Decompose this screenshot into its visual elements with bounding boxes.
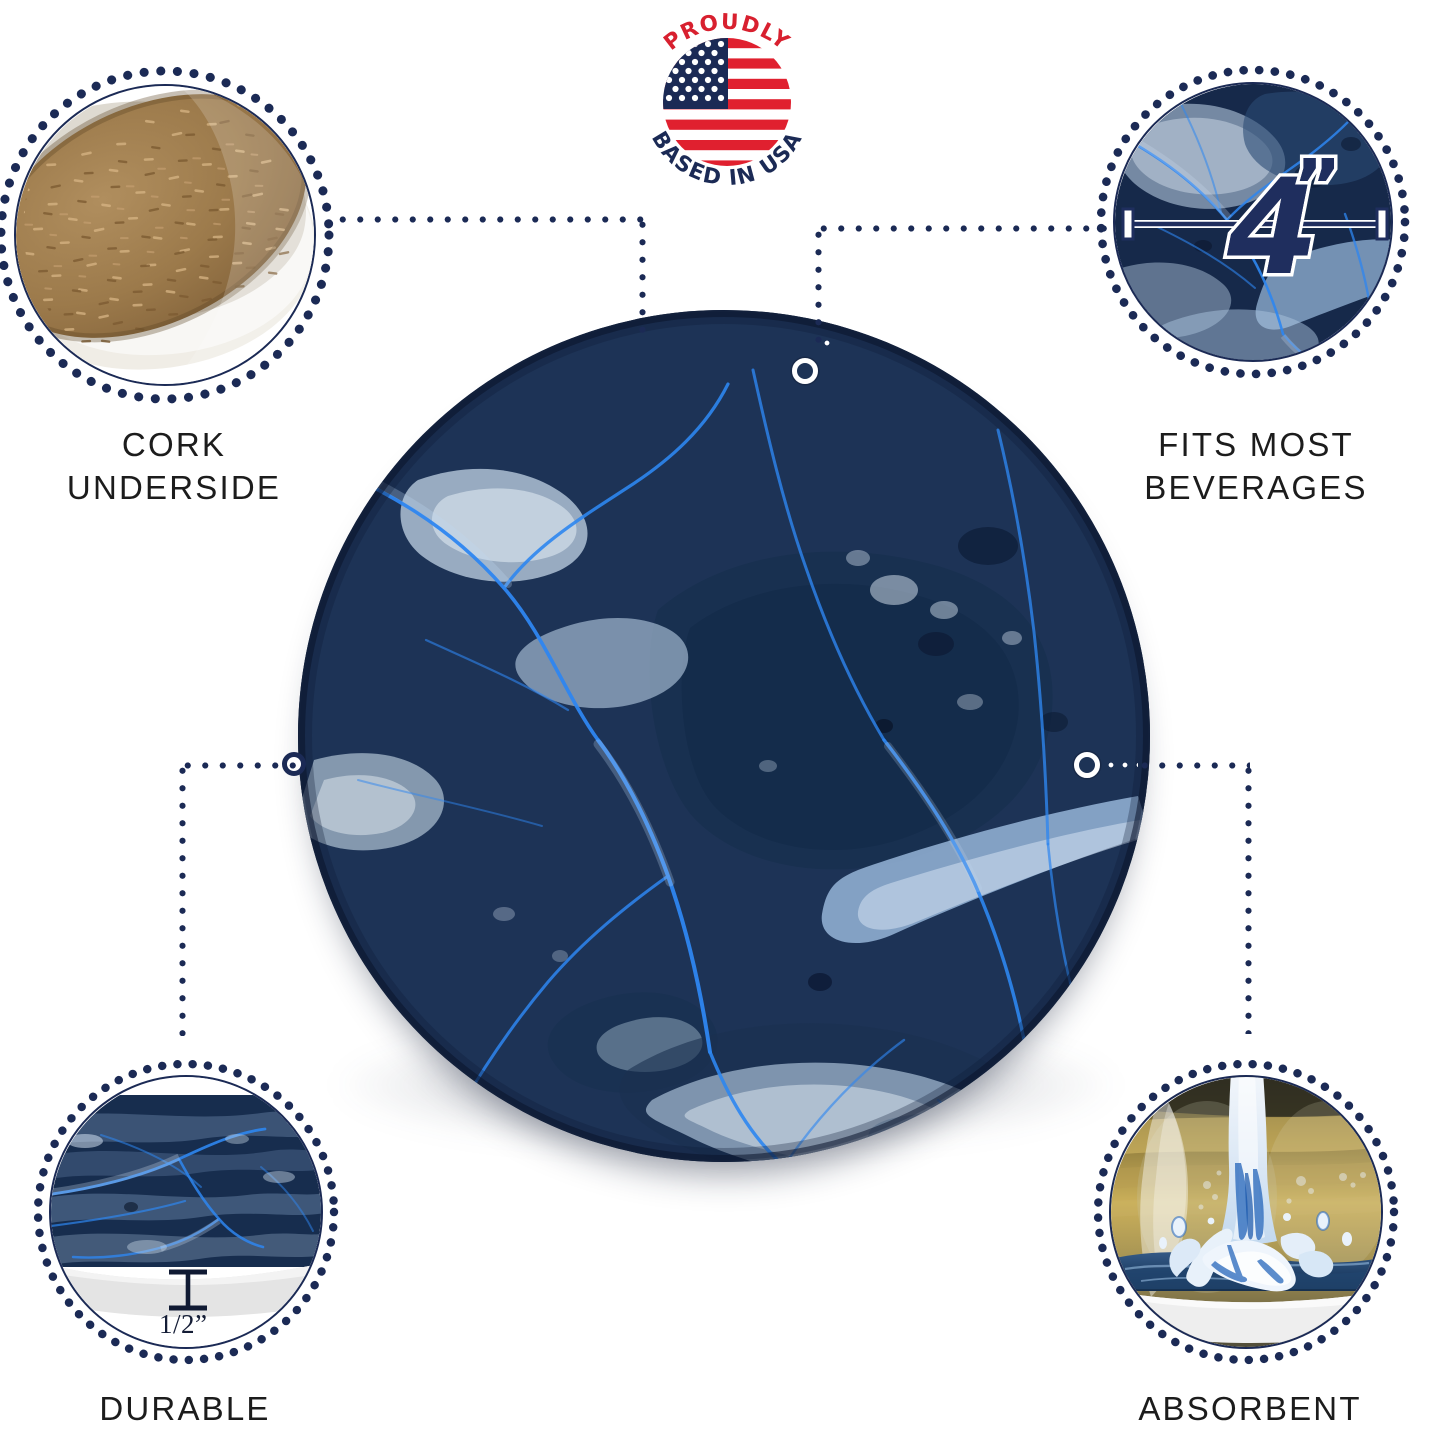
coaster-marble-detail [298,310,1150,1162]
main-coaster-product-image [298,310,1150,1162]
infographic-canvas: CORK UNDERSIDE [0,0,1445,1432]
proudly-based-in-usa-badge: PROUDLY BASED IN USA [632,6,822,196]
pin-fits-beverages [792,358,818,384]
label-durable: DURABLE [35,1388,335,1431]
pin-lead-dots-fits-beverages [820,340,836,346]
durable-image-frame: 1/2” [49,1075,323,1349]
cork-texture-icon [16,86,314,384]
absorbent-image-frame [1109,1075,1383,1349]
label-fits-most-beverages: FITS MOST BEVERAGES [1106,424,1406,510]
callout-fits-most-beverages: 4 4 ” ” [1093,62,1413,382]
water-splash-icon [1111,1077,1381,1347]
callout-absorbent [1090,1056,1402,1368]
measurement-unit: ” [1293,150,1342,224]
thickness-measure-icon [51,1077,321,1347]
fits-beverages-image-frame: 4 4 ” ” [1113,82,1393,362]
pin-lead-dots-absorbent [1104,762,1138,768]
label-cork-underside: CORK UNDERSIDE [14,424,334,510]
callout-cork-underside [0,62,338,408]
measurement-half-inch: 1/2” [159,1309,208,1340]
cork-underside-image-frame [14,84,316,386]
callout-durable: 1/2” [30,1056,342,1368]
pin-absorbent [1074,752,1100,778]
label-absorbent: ABSORBENT [1095,1388,1405,1431]
